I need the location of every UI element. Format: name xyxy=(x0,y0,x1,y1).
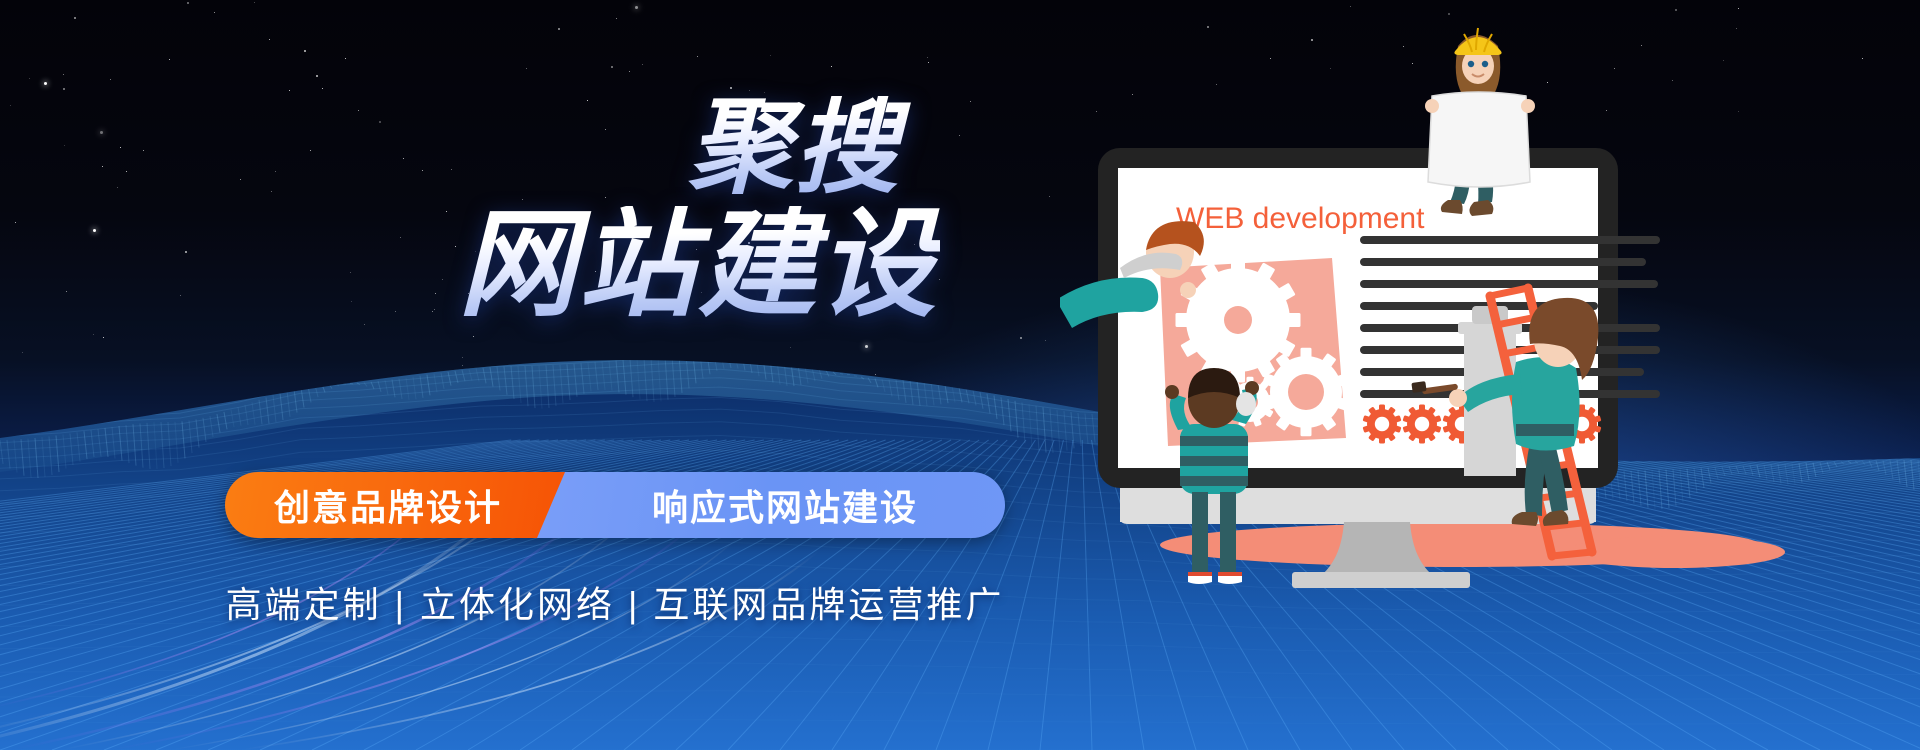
badge-segment-responsive-site[interactable]: 响应式网站建设 xyxy=(537,472,1005,538)
badge-right-label: 响应式网站建设 xyxy=(652,479,918,531)
headline-block: 聚搜 网站建设 创意品牌设计 响应式网站建设 高端定制 | 立体化网络 | 互联… xyxy=(0,0,1080,750)
striped-shirt xyxy=(1180,424,1248,494)
ground-shadow-right xyxy=(1565,536,1785,568)
blueprint-sheet xyxy=(1428,92,1530,187)
badge-segment-brand-design[interactable]: 创意品牌设计 xyxy=(225,472,565,538)
hero-banner: 聚搜 网站建设 创意品牌设计 响应式网站建设 高端定制 | 立体化网络 | 互联… xyxy=(0,0,1920,750)
tagline: 高端定制 | 立体化网络 | 互联网品牌运营推广 xyxy=(200,576,1030,628)
service-badge[interactable]: 创意品牌设计 响应式网站建设 xyxy=(225,472,1005,538)
monitor-base xyxy=(1292,572,1470,588)
main-title: 网站建设 xyxy=(0,206,940,324)
web-development-illustration: WEB development xyxy=(1060,0,1920,750)
screen-heading: WEB development xyxy=(1176,202,1425,235)
hard-hat xyxy=(1454,37,1501,55)
title-group: 聚搜 网站建设 xyxy=(0,96,940,324)
brand-title: 聚搜 xyxy=(0,96,940,200)
badge-left-label: 创意品牌设计 xyxy=(274,479,502,531)
